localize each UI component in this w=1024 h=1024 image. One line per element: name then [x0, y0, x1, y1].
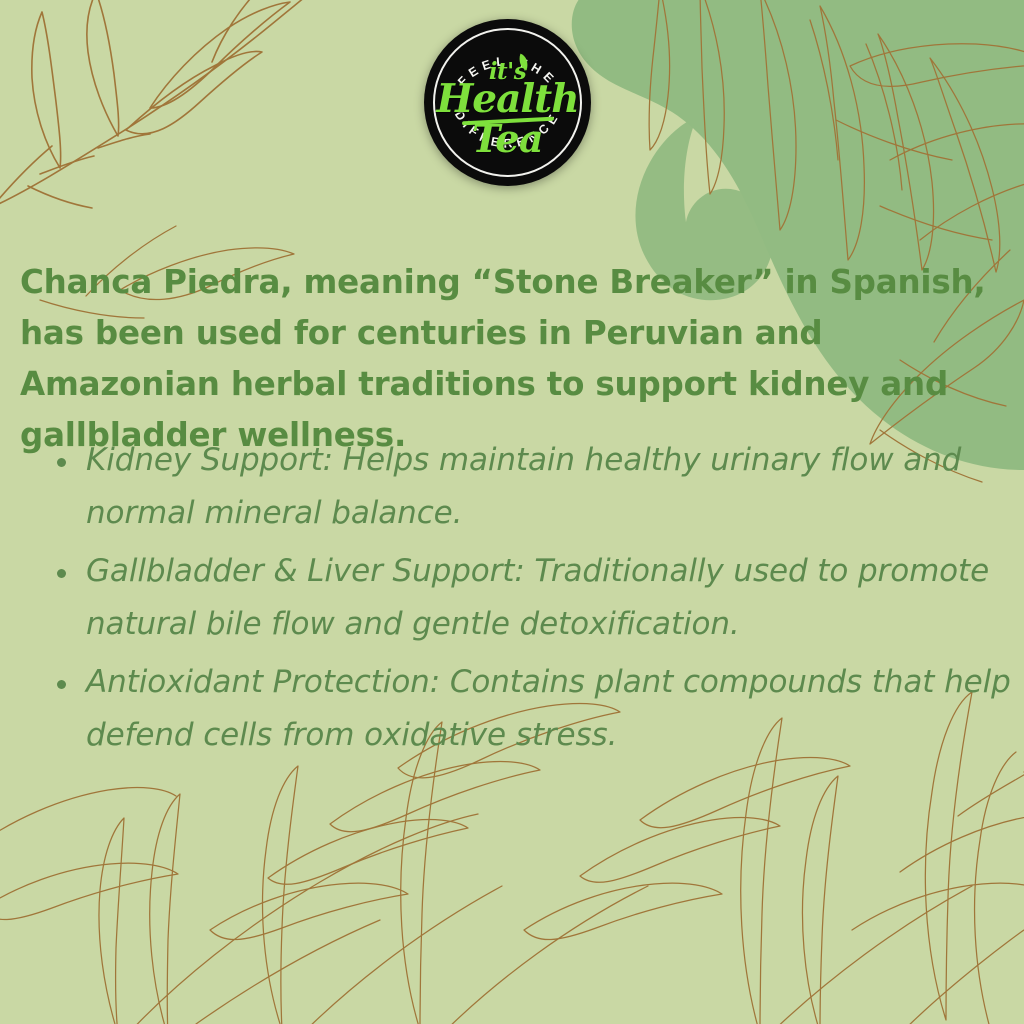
brand-logo[interactable]: FEEL THE DIFFERENCE it's Health Tea [424, 19, 591, 186]
logo-word-tea: Tea [424, 120, 591, 158]
benefits-list: Kidney Support: Helps maintain healthy u… [42, 434, 1017, 767]
list-item: Kidney Support: Helps maintain healthy u… [42, 434, 1017, 540]
list-item: Antioxidant Protection: Contains plant c… [42, 656, 1017, 762]
headline-paragraph: Chanca Piedra, meaning “Stone Breaker” i… [20, 257, 988, 461]
logo-word-health: Health [424, 80, 591, 119]
list-item: Gallbladder & Liver Support: Traditional… [42, 545, 1017, 651]
poster-canvas: FEEL THE DIFFERENCE it's Health Tea Chan… [0, 0, 1024, 1024]
